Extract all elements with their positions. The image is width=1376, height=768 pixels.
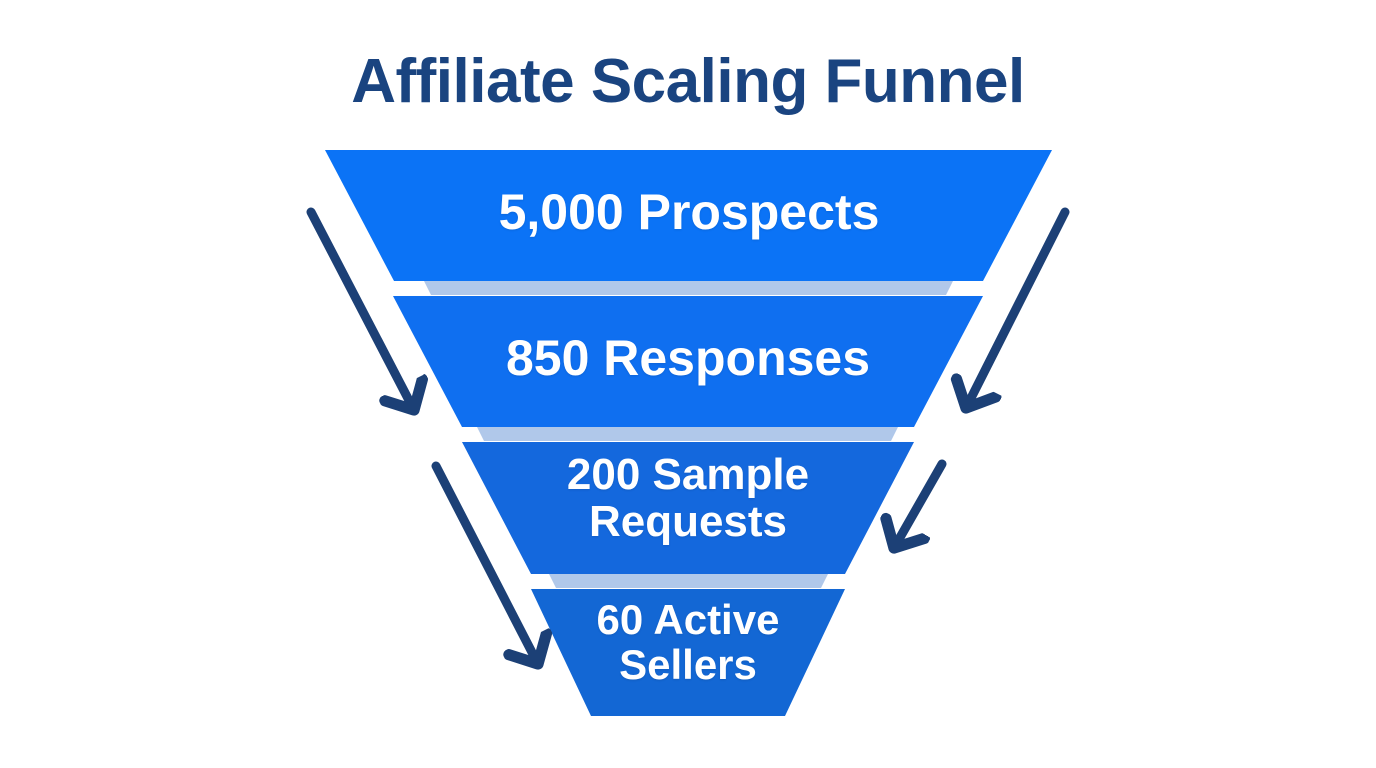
arrow-right-lower — [894, 464, 942, 548]
funnel-stage-active-sellers[interactable] — [531, 589, 845, 716]
funnel-graphic — [0, 0, 1376, 768]
funnel-stage-prospects[interactable] — [325, 150, 1052, 281]
connector-3-4 — [549, 574, 828, 588]
funnel-stage-responses[interactable] — [393, 296, 983, 427]
funnel-diagram-canvas: Affiliate Scaling Funnel 5,000 Prospects… — [0, 0, 1376, 768]
funnel-stage-sample-requests[interactable] — [462, 442, 914, 574]
connector-2-3 — [477, 427, 898, 441]
connector-1-2 — [424, 281, 953, 295]
